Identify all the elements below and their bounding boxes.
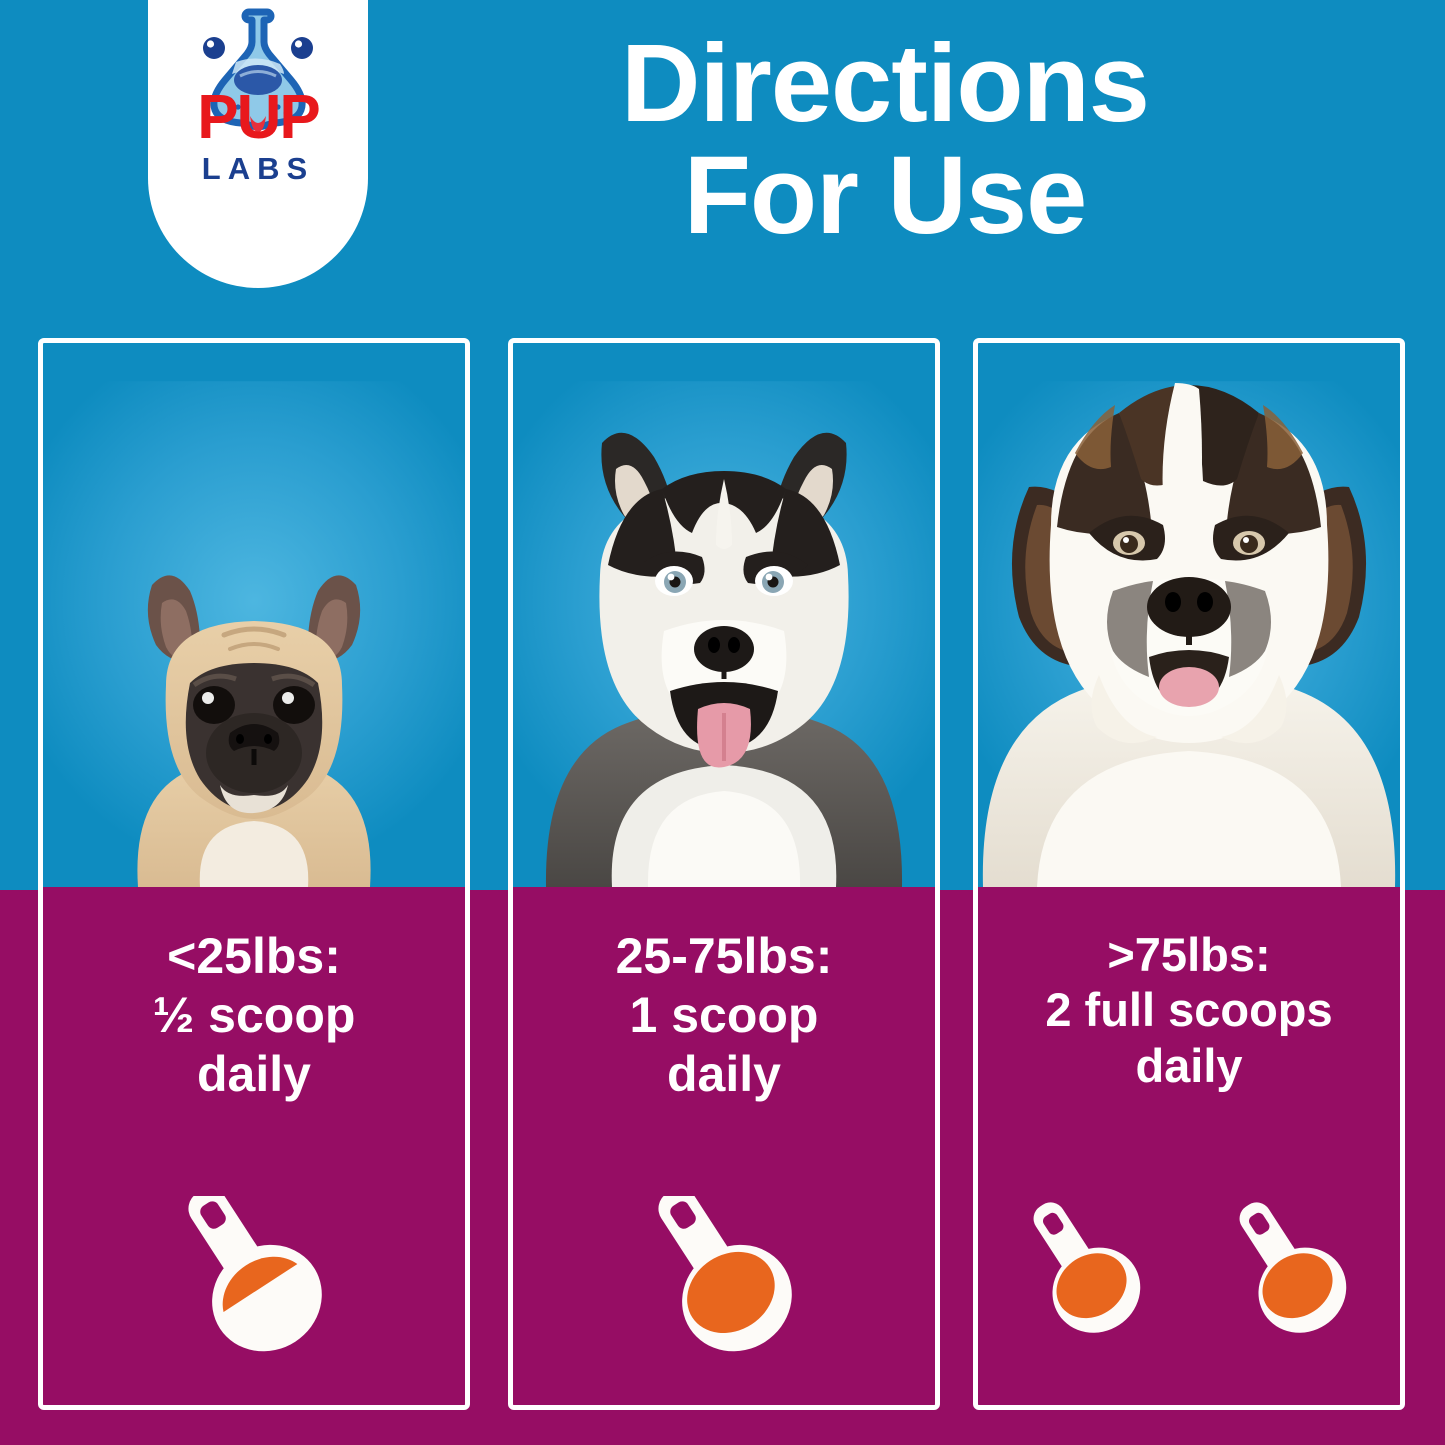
dosage-text-large: >75lbs: 2 full scoops daily xyxy=(978,927,1400,1093)
siberian-husky-photo xyxy=(513,343,935,887)
saint-bernard-photo xyxy=(978,343,1400,887)
weight-label: 25-75lbs: xyxy=(521,927,927,986)
page-title-line2: For Use xyxy=(380,140,1390,252)
french-bulldog-illustration xyxy=(104,557,404,887)
dose-line-1: ½ scoop xyxy=(51,986,457,1045)
scoop-icons-small xyxy=(43,1193,465,1363)
dose-line-1: 2 full scoops xyxy=(986,982,1392,1037)
scoop-icons-medium xyxy=(513,1193,935,1363)
pup-labs-logo: PUP LABS xyxy=(148,0,368,288)
dosage-card-medium-dog: 25-75lbs: 1 scoop daily xyxy=(508,338,940,1410)
logo-wordmark-pup: PUP xyxy=(197,92,318,145)
directions-for-use-poster: PUP LABS Directions For Use xyxy=(0,0,1445,1445)
page-title: Directions For Use xyxy=(380,28,1390,252)
dosage-card-small-dog: <25lbs: ½ scoop daily xyxy=(38,338,470,1410)
dosage-text-small: <25lbs: ½ scoop daily xyxy=(43,927,465,1104)
page-title-line1: Directions xyxy=(380,28,1390,140)
saint-bernard-illustration xyxy=(979,357,1399,887)
dose-line-2: daily xyxy=(521,1045,927,1104)
logo-wordmark-labs: LABS xyxy=(202,151,314,187)
siberian-husky-illustration xyxy=(544,417,904,887)
dosage-card-large-dog: >75lbs: 2 full scoops daily xyxy=(973,338,1405,1410)
dosage-text-medium: 25-75lbs: 1 scoop daily xyxy=(513,927,935,1104)
dose-line-2: daily xyxy=(51,1045,457,1104)
weight-label: <25lbs: xyxy=(51,927,457,986)
french-bulldog-photo xyxy=(43,343,465,887)
measuring-scoop-icon xyxy=(986,1196,1186,1361)
weight-label: >75lbs: xyxy=(986,927,1392,982)
scoop-icons-large xyxy=(978,1193,1400,1363)
measuring-scoop-icon xyxy=(129,1196,379,1361)
dose-line-2: daily xyxy=(986,1038,1392,1093)
dose-line-1: 1 scoop xyxy=(521,986,927,1045)
measuring-scoop-icon xyxy=(599,1196,849,1361)
measuring-scoop-icon xyxy=(1192,1196,1392,1361)
